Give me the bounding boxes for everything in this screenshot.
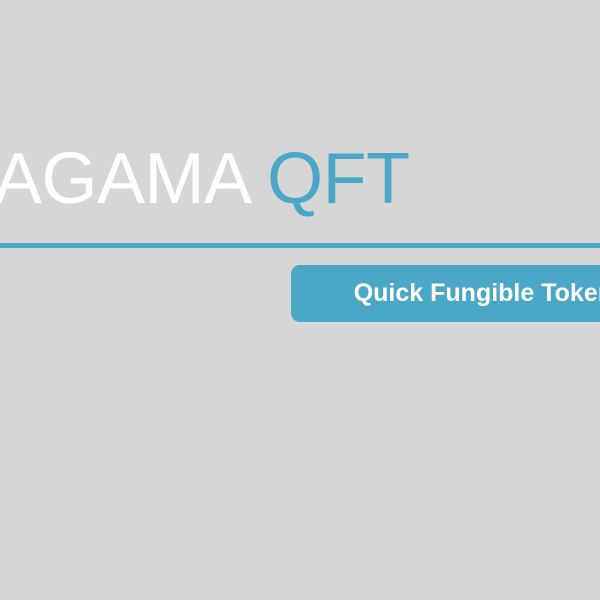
- slide-title: AGAMA QFT: [0, 143, 410, 215]
- title-slide: AGAMA QFT Quick Fungible Token: [0, 0, 600, 600]
- title-primary-word: AGAMA: [0, 139, 248, 219]
- title-accent-word: QFT: [267, 139, 409, 219]
- title-space: [248, 139, 268, 219]
- title-divider-rule: [0, 243, 600, 248]
- subtitle-badge-label: Quick Fungible Token: [354, 281, 600, 306]
- slide-content-area: [0, 330, 600, 600]
- subtitle-badge: Quick Fungible Token: [291, 265, 600, 322]
